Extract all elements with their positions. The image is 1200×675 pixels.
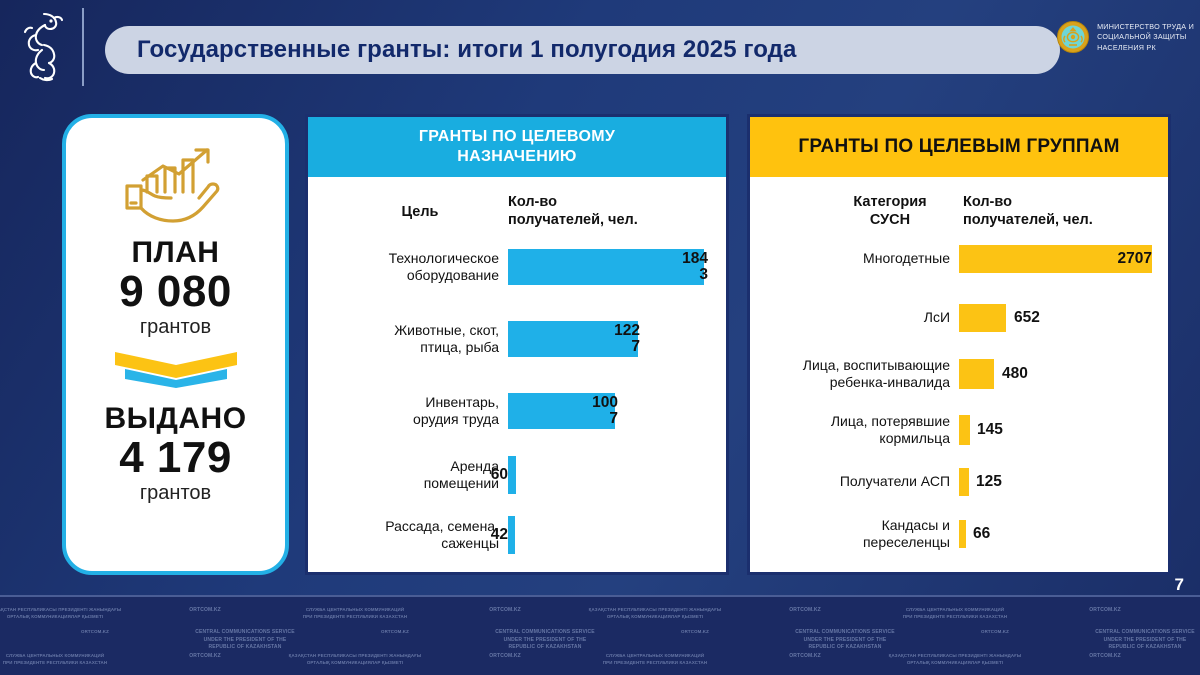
chart-grants-by-purpose: Технологическое оборудование 1843 Животн…: [308, 239, 726, 557]
groups-col-count-line1: Кол-во: [963, 193, 1153, 211]
watermark-text: ORTCOM.KZ: [130, 607, 280, 615]
watermark-text: ORTCOM.KZ: [730, 653, 880, 661]
table-row: Лица, потерявшие кормильца 145: [754, 409, 1168, 451]
bar-zone: 125: [959, 465, 1168, 499]
purpose-heading-line2: НАЗНАЧЕНИЮ: [419, 147, 615, 167]
watermark-text: СЛУЖБА ЦЕНТРАЛЬНЫХ КОММУНИКАЦИЙ ПРИ ПРЕЗ…: [0, 653, 130, 666]
bar-zone: 42: [508, 513, 726, 557]
purpose-heading-line1: ГРАНТЫ ПО ЦЕЛЕВОМУ: [419, 127, 615, 147]
bar: [508, 456, 516, 494]
bar-zone: 480: [959, 353, 1168, 395]
row-label-line2: птица, рыба: [316, 339, 499, 356]
purpose-column-headers: Цель Кол-во получателей, чел.: [308, 177, 726, 239]
bar: [508, 249, 704, 285]
issued-value: 4 179: [119, 436, 232, 481]
bar: [959, 468, 969, 496]
row-label-line2: орудия труда: [316, 411, 499, 428]
bar-value: 1007: [592, 395, 618, 427]
row-label: Инвентарь, орудия труда: [316, 394, 508, 428]
bar-zone: 2707: [959, 241, 1168, 277]
row-label-line1: Лица, воспитывающие: [754, 357, 950, 374]
summary-stat-card: ПЛАН 9 080 грантов ВЫДАНО 4 179 грантов: [62, 114, 289, 575]
bar-value: 1227: [614, 323, 640, 355]
purpose-col-count-line1: Кол-во: [508, 193, 688, 211]
issued-unit: грантов: [140, 482, 211, 505]
watermark-text: ҚАЗАҚСТАН РЕСПУБЛИКАСЫ ПРЕЗИДЕНТІ ЖАНЫНД…: [280, 653, 430, 666]
watermark-text: ORTCOM.KZ: [20, 629, 170, 636]
bar-value: 145: [977, 422, 1003, 438]
row-label: Лица, потерявшие кормильца: [754, 413, 959, 447]
row-label: Получатели АСП: [754, 473, 959, 490]
watermark-text: ORTCOM.KZ: [320, 629, 470, 636]
plan-label: ПЛАН: [132, 236, 220, 270]
table-row: Рассада, семена, саженцы 42: [316, 513, 726, 557]
ministry-name-line1: МИНИСТЕРСТВО ТРУДА И: [1097, 22, 1194, 32]
bar-value: 125: [976, 474, 1002, 490]
row-label-line2: ребенка-инвалида: [754, 374, 950, 391]
chart-grants-by-target-groups: Многодетные 2707 ЛсИ 652: [750, 241, 1168, 555]
plan-unit: грантов: [140, 316, 211, 339]
watermark-text: СЛУЖБА ЦЕНТРАЛЬНЫХ КОММУНИКАЦИЙ ПРИ ПРЕЗ…: [580, 653, 730, 666]
row-label-line1: ЛсИ: [754, 309, 950, 326]
bar-zone: 145: [959, 409, 1168, 451]
bar-value: 480: [1002, 366, 1028, 382]
bar: [959, 415, 970, 445]
watermark-text: CENTRAL COMMUNICATIONS SERVICE UNDER THE…: [170, 629, 320, 652]
bar-zone: 1227: [508, 311, 726, 367]
watermark-text: ҚАЗАҚСТАН РЕСПУБЛИКАСЫ ПРЕЗИДЕНТІ ЖАНЫНД…: [880, 653, 1030, 666]
bar-zone: 60: [508, 453, 726, 497]
bar-value: 652: [1014, 310, 1040, 326]
row-label-line1: Рассада, семена,: [316, 518, 499, 535]
double-chevron-down-icon: [111, 352, 241, 388]
table-row: Лица, воспитывающие ребенка-инвалида 480: [754, 353, 1168, 395]
kazakhstan-snow-leopard-emblem-icon: [14, 8, 76, 86]
watermark-text: ORTCOM.KZ: [130, 653, 280, 661]
row-label-line2: переселенцы: [754, 534, 950, 551]
table-row: Кандасы и переселенцы 66: [754, 513, 1168, 555]
table-row: Технологическое оборудование 1843: [316, 239, 726, 295]
purpose-col-count-line2: получателей, чел.: [508, 211, 688, 229]
bar-value: 1843: [682, 251, 708, 283]
bar: [959, 304, 1006, 332]
hand-holding-growth-chart-icon: [117, 140, 235, 232]
table-row: Получатели АСП 125: [754, 465, 1168, 499]
table-row: Животные, скот, птица, рыба 1227: [316, 311, 726, 367]
ministry-name-line2: СОЦИАЛЬНОЙ ЗАЩИТЫ: [1097, 32, 1194, 42]
groups-col-count-line2: получателей, чел.: [963, 211, 1153, 229]
row-label: Лица, воспитывающие ребенка-инвалида: [754, 357, 959, 391]
row-label-line2: саженцы: [316, 535, 499, 552]
watermark-text: ҚАЗАҚСТАН РЕСПУБЛИКАСЫ ПРЕЗИДЕНТІ ЖАНЫНД…: [580, 607, 730, 620]
slide: Государственные гранты: итоги 1 полугоди…: [0, 0, 1200, 675]
bar: [508, 516, 515, 554]
header-divider: [82, 8, 84, 86]
watermark-text: ҚАЗАҚСТАН РЕСПУБЛИКАСЫ ПРЕЗИДЕНТІ ЖАНЫНД…: [0, 607, 130, 620]
row-label: ЛсИ: [754, 309, 959, 326]
watermark-text: ORTCOM.KZ: [1030, 653, 1180, 661]
groups-column-headers: Категория СУСН Кол-во получателей, чел.: [750, 177, 1168, 239]
row-label-line1: Животные, скот,: [316, 322, 499, 339]
page-title-text: Государственные гранты: итоги 1 полугоди…: [137, 36, 796, 64]
bar: [959, 520, 966, 548]
bar-value: 2707: [1110, 251, 1152, 267]
purpose-col-target: Цель: [360, 203, 480, 221]
slide-number: 7: [1175, 575, 1184, 595]
row-label: Многодетные: [754, 250, 959, 267]
row-label-line2: оборудование: [316, 267, 499, 284]
table-row: ЛсИ 652: [754, 301, 1168, 335]
row-label-line1: Аренда: [316, 458, 499, 475]
watermark-text: СЛУЖБА ЦЕНТРАЛЬНЫХ КОММУНИКАЦИЙ ПРИ ПРЕЗ…: [280, 607, 430, 620]
watermark-text: ORTCOM.KZ: [920, 629, 1070, 636]
bar-zone: 1843: [508, 239, 726, 295]
watermark-text: CENTRAL COMMUNICATIONS SERVICE UNDER THE…: [470, 629, 620, 652]
groups-col-category-line1: Категория: [820, 193, 960, 211]
panel-grants-by-purpose: ГРАНТЫ ПО ЦЕЛЕВОМУ НАЗНАЧЕНИЮ Цель Кол-в…: [305, 114, 729, 575]
bar: [959, 359, 994, 389]
watermark-text: CENTRAL COMMUNICATIONS SERVICE UNDER THE…: [770, 629, 920, 652]
kazakhstan-state-emblem-icon: [1056, 20, 1090, 54]
bar-zone: 652: [959, 301, 1168, 335]
plan-value: 9 080: [119, 270, 232, 315]
bar-value: 42: [482, 527, 508, 543]
row-label: Технологическое оборудование: [316, 250, 508, 284]
watermark-text: CENTRAL COMMUNICATIONS SERVICE UNDER THE…: [1070, 629, 1200, 652]
row-label: Аренда помещении: [316, 458, 508, 492]
bar-value: 66: [973, 526, 990, 542]
table-row: Многодетные 2707: [754, 241, 1168, 277]
watermark-grid: ҚАЗАҚСТАН РЕСПУБЛИКАСЫ ПРЕЗИДЕНТІ ЖАНЫНД…: [0, 601, 1200, 675]
row-label: Рассада, семена, саженцы: [316, 518, 508, 552]
ministry-name-line3: НАСЕЛЕНИЯ РК: [1097, 43, 1194, 53]
ministry-branding: МИНИСТЕРСТВО ТРУДА И СОЦИАЛЬНОЙ ЗАЩИТЫ Н…: [1056, 20, 1194, 54]
table-row: Инвентарь, орудия труда 1007: [316, 383, 726, 439]
watermark-text: ORTCOM.KZ: [430, 607, 580, 615]
slide-header: Государственные гранты: итоги 1 полугоди…: [0, 0, 1200, 96]
issued-label: ВЫДАНО: [104, 402, 246, 436]
row-label-line1: Лица, потерявшие: [754, 413, 950, 430]
panel-grants-by-purpose-heading: ГРАНТЫ ПО ЦЕЛЕВОМУ НАЗНАЧЕНИЮ: [308, 117, 726, 177]
row-label-line2: кормильца: [754, 430, 950, 447]
watermark-text: ORTCOM.KZ: [430, 653, 580, 661]
row-label: Кандасы и переселенцы: [754, 517, 959, 551]
bar-value: 60: [482, 467, 508, 483]
watermark-text: ORTCOM.KZ: [620, 629, 770, 636]
panel-grants-by-target-groups: ГРАНТЫ ПО ЦЕЛЕВЫМ ГРУППАМ Категория СУСН…: [747, 114, 1171, 575]
page-title: Государственные гранты: итоги 1 полугоди…: [105, 26, 1060, 74]
watermark-text: ORTCOM.KZ: [730, 607, 880, 615]
groups-heading: ГРАНТЫ ПО ЦЕЛЕВЫМ ГРУППАМ: [798, 136, 1119, 158]
watermark-text: СЛУЖБА ЦЕНТРАЛЬНЫХ КОММУНИКАЦИЙ ПРИ ПРЕЗ…: [880, 607, 1030, 620]
row-label: Животные, скот, птица, рыба: [316, 322, 508, 356]
watermark-text: ORTCOM.KZ: [1030, 607, 1180, 615]
row-label-line1: Технологическое: [316, 250, 499, 267]
bar-zone: 1007: [508, 383, 726, 439]
row-label-line1: Многодетные: [754, 250, 950, 267]
row-label-line1: Инвентарь,: [316, 394, 499, 411]
row-label-line2: помещении: [316, 475, 499, 492]
bar-zone: 66: [959, 513, 1168, 555]
table-row: Аренда помещении 60: [316, 453, 726, 497]
footer-watermark-strip: ҚАЗАҚСТАН РЕСПУБЛИКАСЫ ПРЕЗИДЕНТІ ЖАНЫНД…: [0, 595, 1200, 675]
row-label-line1: Получатели АСП: [754, 473, 950, 490]
row-label-line1: Кандасы и: [754, 517, 950, 534]
ministry-name: МИНИСТЕРСТВО ТРУДА И СОЦИАЛЬНОЙ ЗАЩИТЫ Н…: [1097, 20, 1194, 53]
groups-col-category-line2: СУСН: [820, 211, 960, 229]
panel-grants-by-target-groups-heading: ГРАНТЫ ПО ЦЕЛЕВЫМ ГРУППАМ: [750, 117, 1168, 177]
